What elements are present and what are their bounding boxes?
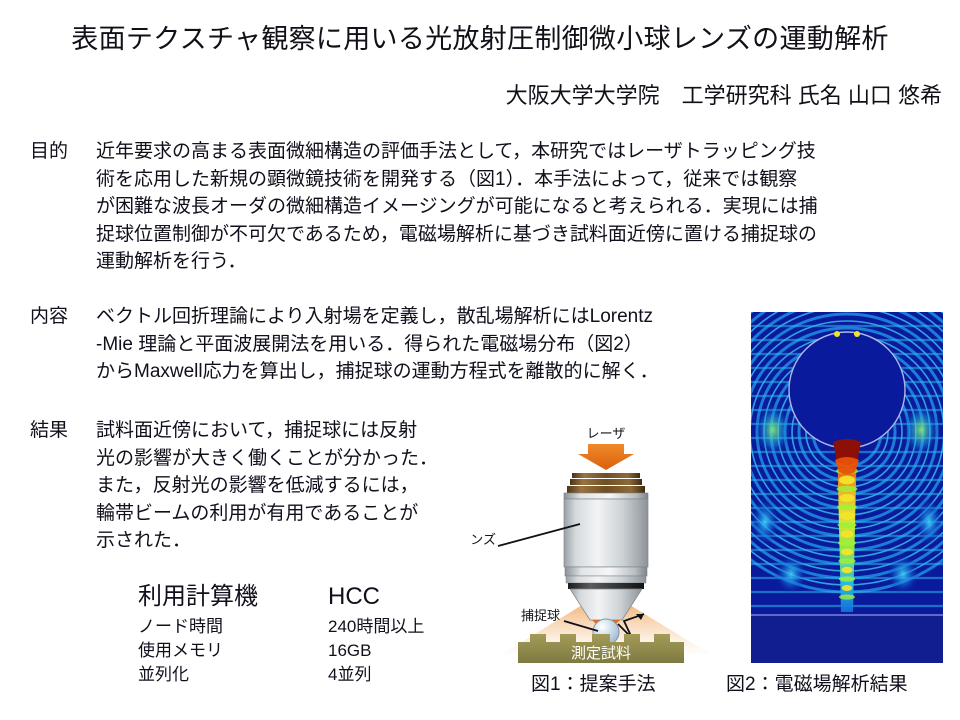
spec-value: 16GB (328, 639, 371, 662)
text-line: が困難な波長オーダの微細構造イメージングが可能になると考えられる．実現には捕 (96, 193, 818, 221)
compute-resource-table: 利用計算機 HCC ノード時間 240時間以上 使用メモリ 16GB 並列化 4… (138, 582, 468, 687)
section-content-body: ベクトル回折理論により入射場を定義し，散乱場解析にはLorentz -Mie 理… (96, 303, 659, 386)
text-line: からMaxwell応力を算出し，捕捉球の運動方程式を離散的に解く． (96, 358, 659, 386)
page-title: 表面テクスチャ観察に用いる光放射圧制御微小球レンズの運動解析 (0, 22, 960, 56)
table-row: 使用メモリ 16GB (138, 639, 468, 663)
sphere-region (789, 332, 905, 448)
table-row: 利用計算機 HCC (138, 582, 468, 615)
figure1-label-sample: 測定試料 (571, 645, 631, 662)
table-row: 並列化 4並列 (138, 663, 468, 687)
text-line: 捉球位置制御が不可欠であるため，電磁場解析に基づき試料面近傍に置ける捕捉球の (96, 221, 818, 249)
spec-key: 使用メモリ (138, 639, 223, 662)
text-line: 運動解析を行う． (96, 248, 818, 276)
spec-value: 4並列 (328, 663, 371, 686)
section-purpose-body: 近年要求の高まる表面微細構造の評価手法として，本研究ではレーザトラッピング技 術… (96, 138, 818, 276)
spec-key: 並列化 (138, 663, 189, 686)
section-content-label: 内容 (30, 303, 92, 330)
objective-lens-icon (564, 473, 648, 625)
text-line: -Mie 理論と平面波展開法を用いる．得られた電磁場分布（図2） (96, 331, 659, 359)
text-line: また，反射光の影響を低減するには， (96, 472, 438, 500)
substrate-region (751, 615, 943, 663)
text-line: ベクトル回折理論により入射場を定義し，散乱場解析にはLorentz (96, 303, 659, 331)
figure-em-field-result (751, 312, 943, 663)
section-result-label: 結果 (30, 417, 92, 444)
text-line: 試料面近傍において，捕捉球には反射 (96, 417, 438, 445)
text-line: 輪帯ビームの利用が有用であることが (96, 500, 438, 528)
spec-value: HCC (328, 582, 380, 612)
figure1-label-sphere: 捕捉球 (521, 608, 560, 623)
section-result-body: 試料面近傍において，捕捉球には反射 光の影響が大きく働くことが分かった． また，… (96, 417, 438, 555)
slide-canvas: 表面テクスチャ観察に用いる光放射圧制御微小球レンズの運動解析 大阪大学大学院 工… (0, 0, 960, 720)
spec-key: ノード時間 (138, 615, 223, 638)
text-line: 近年要求の高まる表面微細構造の評価手法として，本研究ではレーザトラッピング技 (96, 138, 818, 166)
text-line: 術を応用した新規の顕微鏡技術を開発する（図1）．本手法によって，従来では観察 (96, 166, 818, 194)
spec-key: 利用計算機 (138, 582, 258, 612)
figure2-caption: 図2：電磁場解析結果 (726, 672, 908, 698)
table-row: ノード時間 240時間以上 (138, 615, 468, 639)
laser-arrow-icon (578, 444, 634, 470)
section-purpose-label: 目的 (30, 138, 92, 165)
figure1-label-objective: 対物レンズ (472, 532, 496, 547)
author-affiliation: 大阪大学大学院 工学研究科 氏名 山口 悠希 (506, 82, 942, 110)
figure1-label-laser: レーザ (587, 426, 626, 441)
text-line: 光の影響が大きく働くことが分かった． (96, 445, 438, 473)
spec-value: 240時間以上 (328, 615, 424, 638)
figure-proposed-method: レーザ 対物レンズ (472, 424, 740, 664)
figure1-caption: 図1：提案手法 (531, 672, 656, 698)
text-line: 示された． (96, 527, 438, 555)
